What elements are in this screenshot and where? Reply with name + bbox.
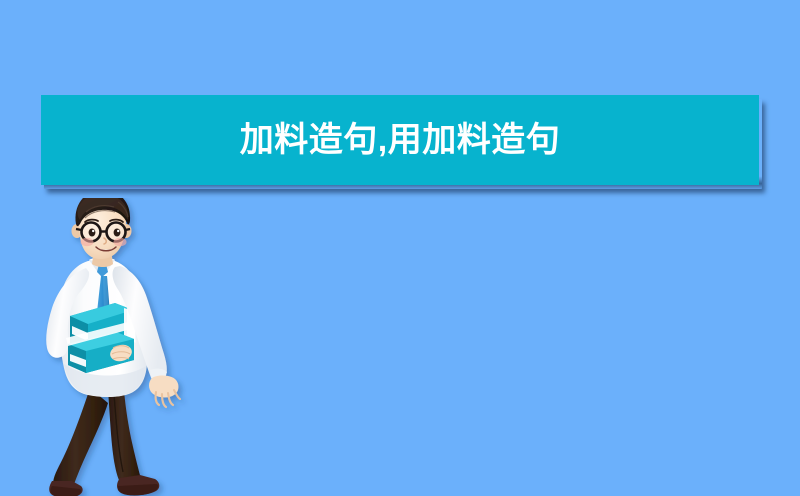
title-banner: 加料造句,用加料造句	[41, 95, 759, 185]
page-title: 加料造句,用加料造句	[240, 123, 560, 157]
front-leg	[108, 390, 159, 495]
head	[72, 198, 132, 259]
character-figure	[46, 198, 180, 496]
page-canvas: 加料造句,用加料造句	[0, 0, 800, 496]
right-hand	[149, 376, 180, 407]
back-leg	[49, 388, 108, 496]
walking-teacher-illustration	[28, 198, 208, 496]
